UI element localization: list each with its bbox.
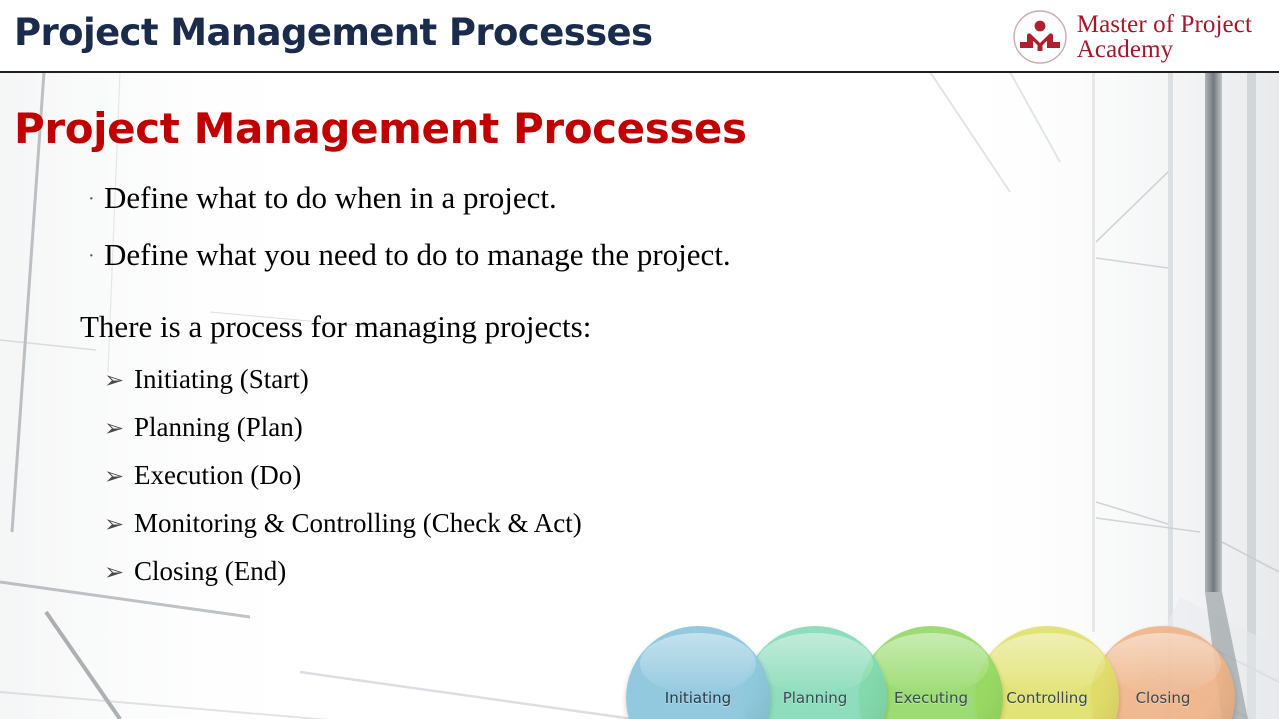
header-divider — [0, 71, 1279, 73]
list-item: ➢ Monitoring & Controlling (Check & Act) — [0, 508, 900, 556]
arrow-bullet-icon: ➢ — [104, 368, 134, 392]
sub-item-label: Execution (Do) — [134, 460, 301, 491]
sub-item-label: Planning (Plan) — [134, 412, 303, 443]
process-circle-label: Closing — [1136, 689, 1191, 707]
bullet-list: · Define what to do when in a project. ·… — [0, 182, 1000, 295]
lead-line: There is a process for managing projects… — [80, 309, 591, 345]
process-sub-list: ➢ Initiating (Start) ➢ Planning (Plan) ➢… — [0, 364, 900, 604]
master-of-project-academy-logo-icon — [1012, 9, 1068, 65]
list-item: · Define what to do when in a project. — [0, 182, 1000, 215]
header-title: Project Management Processes — [14, 11, 652, 54]
logo-text-line1: Master of Project — [1077, 12, 1252, 38]
list-item: ➢ Closing (End) — [0, 556, 900, 604]
arrow-bullet-icon: ➢ — [104, 560, 134, 584]
bullet-text: Define what you need to do to manage the… — [104, 239, 731, 272]
process-circle-label: Planning — [783, 689, 848, 707]
logo[interactable]: Master of Project Academy — [1012, 9, 1252, 65]
list-item: · Define what you need to do to manage t… — [0, 239, 1000, 272]
bullet-text: Define what to do when in a project. — [104, 182, 557, 215]
sub-item-label: Initiating (Start) — [134, 364, 309, 395]
process-circle-label: Initiating — [665, 689, 731, 707]
process-circle-label: Executing — [894, 689, 968, 707]
logo-text: Master of Project Academy — [1077, 12, 1252, 63]
process-circle-initiating: Initiating — [626, 626, 770, 719]
process-circle-label: Controlling — [1006, 689, 1088, 707]
list-item: ➢ Execution (Do) — [0, 460, 900, 508]
slide-root: Project Management Processes Master of P… — [0, 0, 1279, 719]
bullet-dot-icon: · — [88, 246, 104, 266]
arrow-bullet-icon: ➢ — [104, 512, 134, 536]
slide-header: Project Management Processes Master of P… — [0, 0, 1279, 72]
arrow-bullet-icon: ➢ — [104, 416, 134, 440]
list-item: ➢ Initiating (Start) — [0, 364, 900, 412]
sub-item-label: Monitoring & Controlling (Check & Act) — [134, 508, 582, 539]
arrow-bullet-icon: ➢ — [104, 464, 134, 488]
bullet-dot-icon: · — [88, 189, 104, 209]
slide-content: Project Management Processes · Define wh… — [0, 72, 1279, 719]
list-item: ➢ Planning (Plan) — [0, 412, 900, 460]
sub-item-label: Closing (End) — [134, 556, 286, 587]
process-groups-diagram: Initiating Planning Executing Controllin… — [618, 620, 1243, 719]
slide-title: Project Management Processes — [14, 104, 747, 153]
logo-text-line2: Academy — [1077, 37, 1252, 63]
